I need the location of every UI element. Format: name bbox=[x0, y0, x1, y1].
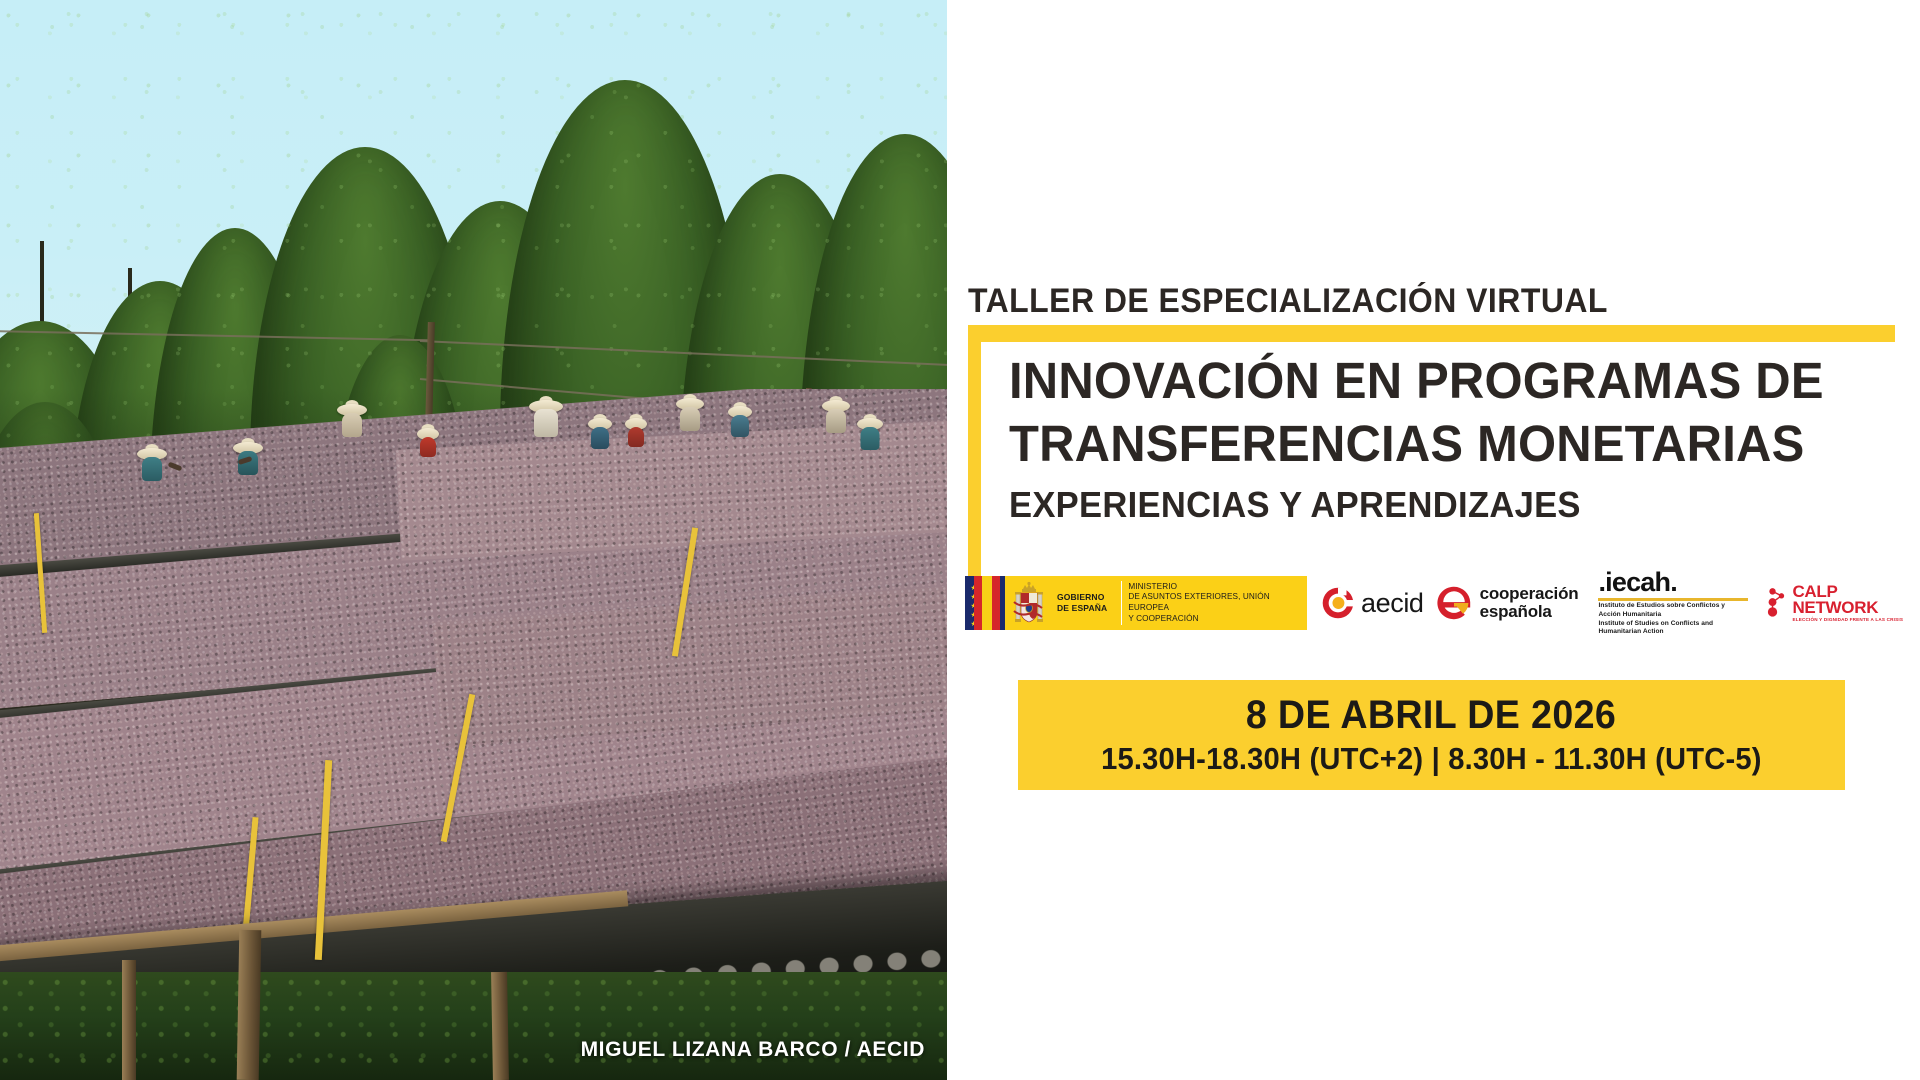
cooperacion-mark-icon bbox=[1436, 585, 1472, 621]
logo-divider bbox=[1121, 581, 1122, 625]
date-time-block: 8 DE ABRIL DE 2026 15.30H-18.30H (UTC+2)… bbox=[1018, 680, 1845, 790]
grass-texture bbox=[0, 972, 947, 1080]
aecid-wordmark: aecid bbox=[1361, 588, 1424, 619]
gobierno-de-espana-logo: ★★★★★ bbox=[965, 576, 1307, 630]
gobierno-line-2: DE ESPAÑA bbox=[1057, 603, 1107, 614]
event-date: 8 DE ABRIL DE 2026 bbox=[1246, 693, 1616, 738]
iecah-wordmark: .iecah. bbox=[1598, 569, 1748, 596]
calp-network-logo: CALP NETWORK ELECCIÓN Y DIGNIDAD FRENTE … bbox=[1766, 584, 1903, 623]
event-time: 15.30H-18.30H (UTC+2) | 8.30H - 11.30H (… bbox=[1101, 741, 1762, 777]
ministerio-label: MINISTERIO DE ASUNTOS EXTERIORES, UNIÓN … bbox=[1128, 576, 1307, 630]
cooperacion-espanola-logo: cooperación española bbox=[1436, 585, 1579, 622]
event-kicker: TALLER DE ESPECIALIZACIÓN VIRTUAL bbox=[968, 282, 1608, 321]
info-panel: TALLER DE ESPECIALIZACIÓN VIRTUAL INNOVA… bbox=[947, 0, 1920, 1080]
ministerio-line-3: Y COOPERACIÓN bbox=[1128, 614, 1301, 625]
ministerio-line-2: DE ASUNTOS EXTERIORES, UNIÓN EUROPEA bbox=[1128, 592, 1301, 613]
accent-bar-left bbox=[968, 342, 981, 576]
support-post bbox=[491, 972, 509, 1080]
iecah-subtitle-en: Institute of Studies on Conflicts and Hu… bbox=[1598, 620, 1748, 638]
spain-coat-of-arms-icon bbox=[1005, 576, 1053, 630]
calp-wordmark: CALP NETWORK ELECCIÓN Y DIGNIDAD FRENTE … bbox=[1792, 584, 1903, 623]
flag-stripes bbox=[974, 576, 1000, 630]
title-line-1: INNOVACIÓN EN PROGRAMAS DE bbox=[1009, 352, 1863, 409]
ministerio-line-1: MINISTERIO bbox=[1128, 582, 1301, 593]
aecid-logo: aecid bbox=[1321, 586, 1424, 620]
title-block: INNOVACIÓN EN PROGRAMAS DE TRANSFERENCIA… bbox=[1009, 352, 1899, 526]
calp-network-mark-icon bbox=[1766, 586, 1788, 620]
calp-line-2: NETWORK bbox=[1792, 600, 1903, 616]
cooperacion-wordmark: cooperación española bbox=[1480, 585, 1579, 622]
sponsor-logo-row: ★★★★★ bbox=[965, 576, 1903, 630]
coffee-drying-beds-photo: MIGUEL LIZANA BARCO / AECID bbox=[0, 0, 947, 1080]
iecah-logo: .iecah. Instituto de Estudios sobre Conf… bbox=[1598, 569, 1748, 638]
aecid-mark-icon bbox=[1321, 586, 1355, 620]
title-subtitle: EXPERIENCIAS Y APRENDIZAJES bbox=[1009, 484, 1863, 526]
gobierno-label: GOBIERNO DE ESPAÑA bbox=[1053, 576, 1115, 630]
support-post bbox=[122, 960, 136, 1080]
accent-bar-top bbox=[968, 325, 1895, 342]
cooperacion-line-1: cooperación bbox=[1480, 585, 1579, 603]
spain-flag-icon: ★★★★★ bbox=[965, 576, 1005, 630]
iecah-rule bbox=[1598, 598, 1748, 601]
iecah-subtitle-es: Instituto de Estudios sobre Conflictos y… bbox=[1598, 602, 1748, 620]
iecah-subtitle: Instituto de Estudios sobre Conflictos y… bbox=[1598, 602, 1748, 638]
photo-credit: MIGUEL LIZANA BARCO / AECID bbox=[581, 1038, 925, 1062]
title-line-2: TRANSFERENCIAS MONETARIAS bbox=[1009, 415, 1863, 472]
poster: MIGUEL LIZANA BARCO / AECID TALLER DE ES… bbox=[0, 0, 1920, 1080]
gobierno-line-1: GOBIERNO bbox=[1057, 592, 1107, 603]
cooperacion-line-2: española bbox=[1480, 603, 1579, 621]
calp-tagline: ELECCIÓN Y DIGNIDAD FRENTE A LAS CRISIS bbox=[1792, 617, 1903, 622]
support-post bbox=[237, 930, 262, 1080]
